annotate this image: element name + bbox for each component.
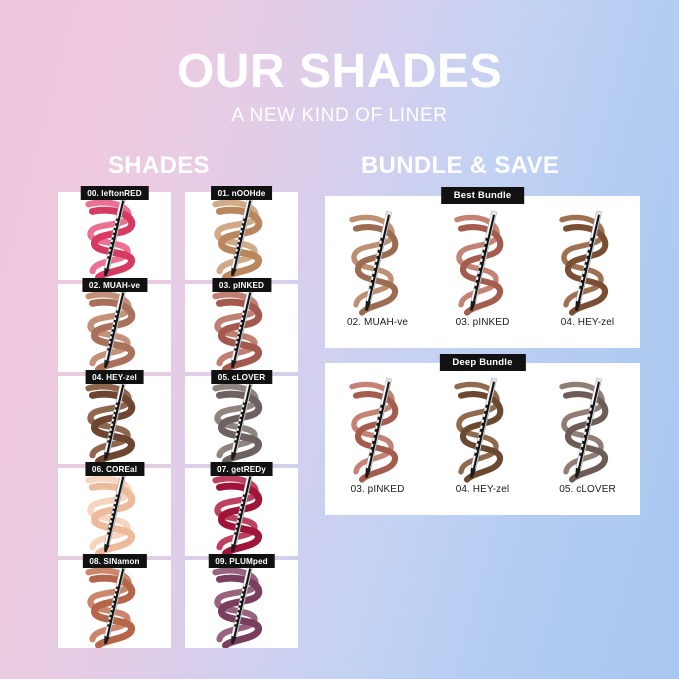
shade-cell[interactable]: 02. MUAH-ve — [58, 284, 171, 372]
page-subtitle: A NEW KIND OF LINER — [0, 105, 679, 127]
swatch-squiggle-icon — [58, 284, 171, 372]
swatch-squiggle-icon — [58, 560, 171, 648]
shades-section-title: SHADES — [108, 152, 210, 180]
shade-label: 02. MUAH-ve — [82, 278, 147, 292]
bundle-item[interactable]: 03. pINKED — [434, 204, 532, 328]
bundle-items: 02. MUAH-ve 03. — [325, 204, 640, 348]
shade-cell[interactable]: 05. cLOVER — [185, 376, 298, 464]
shade-label: 05. cLOVER — [211, 370, 272, 384]
bundle-art — [329, 204, 427, 316]
bundle-item-label: 04. HEY-zel — [539, 317, 637, 328]
swatch-squiggle-icon — [329, 371, 427, 483]
page-title: OUR SHADES — [0, 48, 679, 96]
poster-header: OUR SHADES A NEW KIND OF LINER — [0, 48, 679, 127]
bundle-items: 03. pINKED 04. — [325, 371, 640, 515]
shade-label: 04. HEY-zel — [85, 370, 144, 384]
bundle-item-label: 02. MUAH-ve — [329, 317, 427, 328]
bundle-art — [329, 371, 427, 483]
swatch-squiggle-icon — [434, 371, 532, 483]
shade-cell[interactable]: 06. COREal — [58, 468, 171, 556]
swatch-squiggle-icon — [58, 376, 171, 464]
swatch-squiggle-icon — [58, 468, 171, 556]
shade-cell[interactable]: 03. pINKED — [185, 284, 298, 372]
shade-label: 08. SINamon — [82, 554, 146, 568]
shade-label: 06. COREal — [85, 462, 144, 476]
bundle-card[interactable]: Best Bundle 02. — [325, 196, 640, 348]
shade-label: 07. getREDy — [210, 462, 273, 476]
swatch-squiggle-icon — [539, 371, 637, 483]
bundle-item[interactable]: 02. MUAH-ve — [329, 204, 427, 328]
shade-cell[interactable]: 00. leftonRED — [58, 192, 171, 280]
shade-cell[interactable]: 08. SINamon — [58, 560, 171, 648]
bundle-art — [539, 204, 637, 316]
shade-label: 03. pINKED — [212, 278, 271, 292]
bundle-section-title: BUNDLE & SAVE — [361, 152, 559, 180]
bundle-badge: Deep Bundle — [439, 354, 525, 371]
shade-cell[interactable]: 04. HEY-zel — [58, 376, 171, 464]
bundle-item-label: 05. cLOVER — [539, 484, 637, 495]
shade-label: 09. PLUMped — [208, 554, 275, 568]
bundle-art — [539, 371, 637, 483]
shade-label: 01. nOOHde — [211, 186, 273, 200]
shade-cell[interactable]: 07. getREDy — [185, 468, 298, 556]
bundle-item[interactable]: 04. HEY-zel — [539, 204, 637, 328]
bundle-art — [434, 371, 532, 483]
shade-cell[interactable]: 09. PLUMped — [185, 560, 298, 648]
swatch-squiggle-icon — [185, 284, 298, 372]
bundle-art — [434, 204, 532, 316]
poster-root: OUR SHADES A NEW KIND OF LINER SHADES BU… — [0, 0, 679, 679]
bundle-item-label: 03. pINKED — [434, 317, 532, 328]
shade-cell[interactable]: 01. nOOHde — [185, 192, 298, 280]
shades-grid: 00. leftonRED 01. nOOHde — [58, 192, 298, 648]
bundle-item[interactable]: 03. pINKED — [329, 371, 427, 495]
bundle-badge: Best Bundle — [441, 187, 525, 204]
swatch-squiggle-icon — [185, 560, 298, 648]
swatch-squiggle-icon — [329, 204, 427, 316]
shade-label: 00. leftonRED — [80, 186, 149, 200]
bundle-item-label: 04. HEY-zel — [434, 484, 532, 495]
swatch-squiggle-icon — [434, 204, 532, 316]
bundle-item-label: 03. pINKED — [329, 484, 427, 495]
bundle-card[interactable]: Deep Bundle 03. — [325, 363, 640, 515]
swatch-squiggle-icon — [185, 376, 298, 464]
bundle-item[interactable]: 04. HEY-zel — [434, 371, 532, 495]
swatch-squiggle-icon — [58, 192, 171, 280]
swatch-squiggle-icon — [185, 468, 298, 556]
swatch-squiggle-icon — [539, 204, 637, 316]
swatch-squiggle-icon — [185, 192, 298, 280]
bundle-item[interactable]: 05. cLOVER — [539, 371, 637, 495]
